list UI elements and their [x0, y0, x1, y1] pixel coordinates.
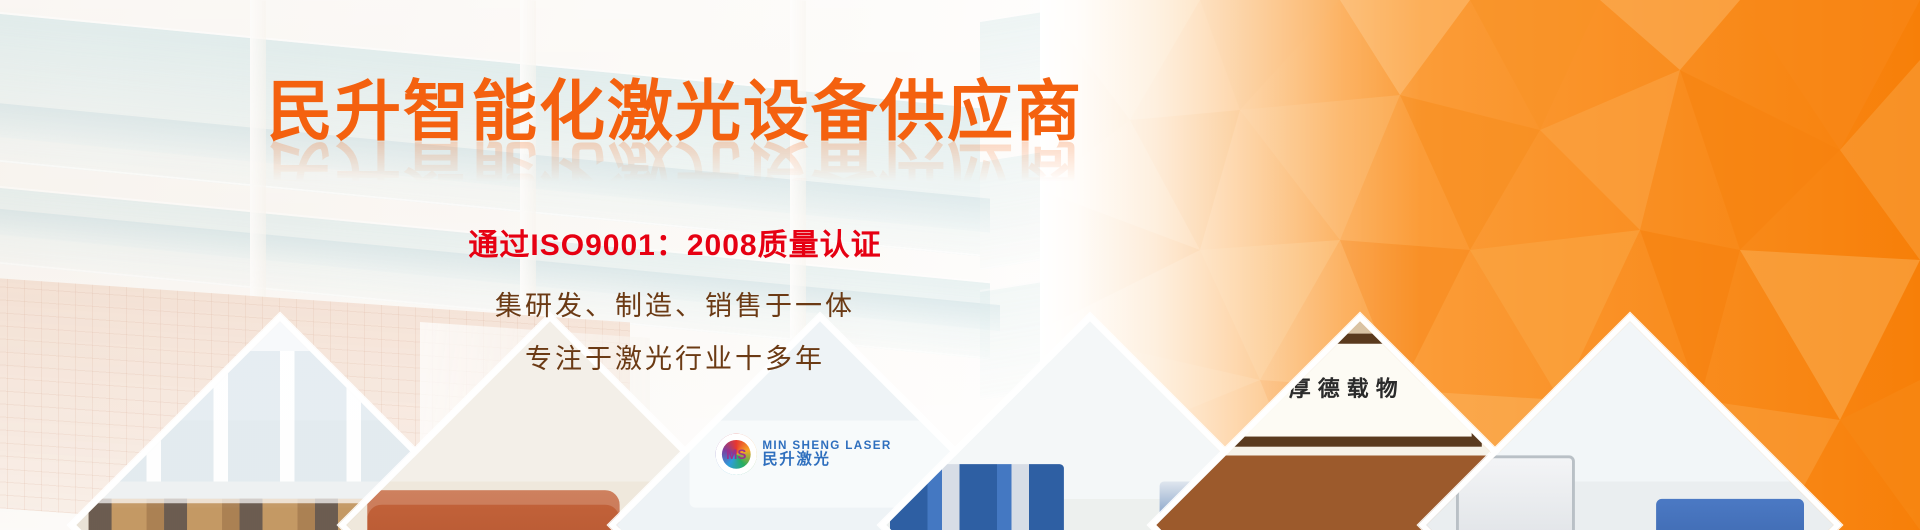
logo-ring-icon: MS	[716, 434, 757, 475]
company-logo: MS MIN SHENG LASER 民升激光	[716, 434, 892, 475]
logo-monogram: MS	[726, 448, 746, 461]
calligraphy-frame: 厚德载物	[1212, 334, 1482, 447]
calligraphy-text: 厚德载物	[1289, 379, 1405, 401]
diamond-photo-strip: MS MIN SHENG LASER 民升激光	[0, 170, 1920, 530]
logo-english-name: MIN SHENG LASER	[762, 439, 891, 451]
quality-inspection-image	[1418, 313, 1842, 530]
company-hero-banner: MS MIN SHENG LASER 民升激光	[0, 0, 1920, 530]
logo-chinese-name: 民升激光	[762, 451, 891, 469]
photo-tile-quality-inspection[interactable]	[1418, 313, 1842, 530]
